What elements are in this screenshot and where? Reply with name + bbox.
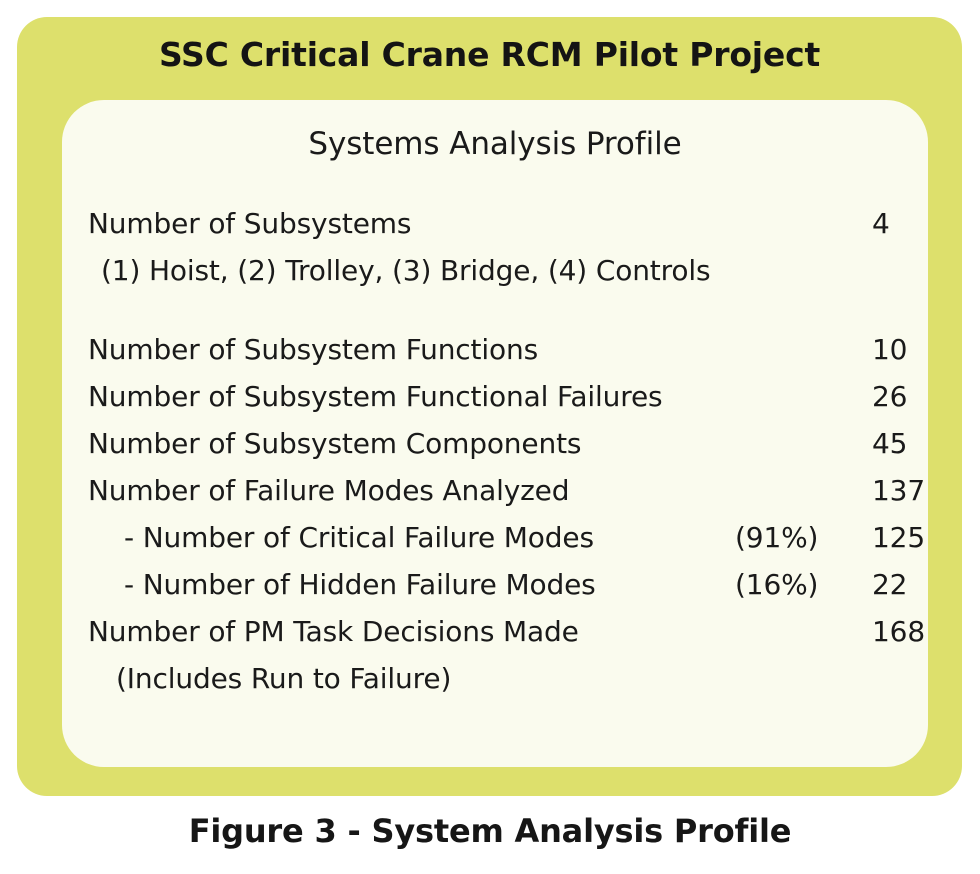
row-label: (Includes Run to Failure) <box>116 655 451 702</box>
row-label: - Number of Critical Failure Modes <box>124 514 594 561</box>
row-value: 4 <box>872 200 890 247</box>
row-value: 168 <box>872 608 925 655</box>
table-row: Number of Subsystem Functional Failures2… <box>62 373 928 420</box>
table-row: Number of Failure Modes Analyzed137 <box>62 467 928 514</box>
row-label: Number of Failure Modes Analyzed <box>88 467 569 514</box>
profile-row-list: Number of Subsystems4(1) Hoist, (2) Trol… <box>62 200 928 702</box>
outer-card: SSC Critical Crane RCM Pilot Project Sys… <box>17 17 962 796</box>
page-title: SSC Critical Crane RCM Pilot Project <box>17 35 962 74</box>
row-label: Number of Subsystem Components <box>88 420 581 467</box>
row-value: 45 <box>872 420 907 467</box>
table-row: (1) Hoist, (2) Trolley, (3) Bridge, (4) … <box>62 247 928 294</box>
table-row: Number of Subsystem Functions10 <box>62 326 928 373</box>
panel-subtitle: Systems Analysis Profile <box>62 126 928 162</box>
table-row: - Number of Hidden Failure Modes(16%)22 <box>62 561 928 608</box>
row-value: 10 <box>872 326 907 373</box>
table-row: (Includes Run to Failure) <box>62 655 928 702</box>
row-spacer <box>62 294 928 326</box>
row-label: (1) Hoist, (2) Trolley, (3) Bridge, (4) … <box>101 247 710 294</box>
inner-panel: Systems Analysis Profile Number of Subsy… <box>62 100 928 767</box>
table-row: Number of Subsystems4 <box>62 200 928 247</box>
figure-container: SSC Critical Crane RCM Pilot Project Sys… <box>0 0 980 874</box>
row-value: 22 <box>872 561 907 608</box>
row-percent: (16%) <box>735 561 818 608</box>
figure-caption: Figure 3 - System Analysis Profile <box>0 812 980 850</box>
row-value: 137 <box>872 467 925 514</box>
row-value: 26 <box>872 373 907 420</box>
row-label: Number of PM Task Decisions Made <box>88 608 579 655</box>
row-percent: (91%) <box>735 514 818 561</box>
row-label: Number of Subsystems <box>88 200 411 247</box>
table-row: - Number of Critical Failure Modes(91%)1… <box>62 514 928 561</box>
row-label: Number of Subsystem Functional Failures <box>88 373 662 420</box>
row-label: - Number of Hidden Failure Modes <box>124 561 596 608</box>
table-row: Number of Subsystem Components45 <box>62 420 928 467</box>
row-value: 125 <box>872 514 925 561</box>
row-label: Number of Subsystem Functions <box>88 326 538 373</box>
table-row: Number of PM Task Decisions Made168 <box>62 608 928 655</box>
